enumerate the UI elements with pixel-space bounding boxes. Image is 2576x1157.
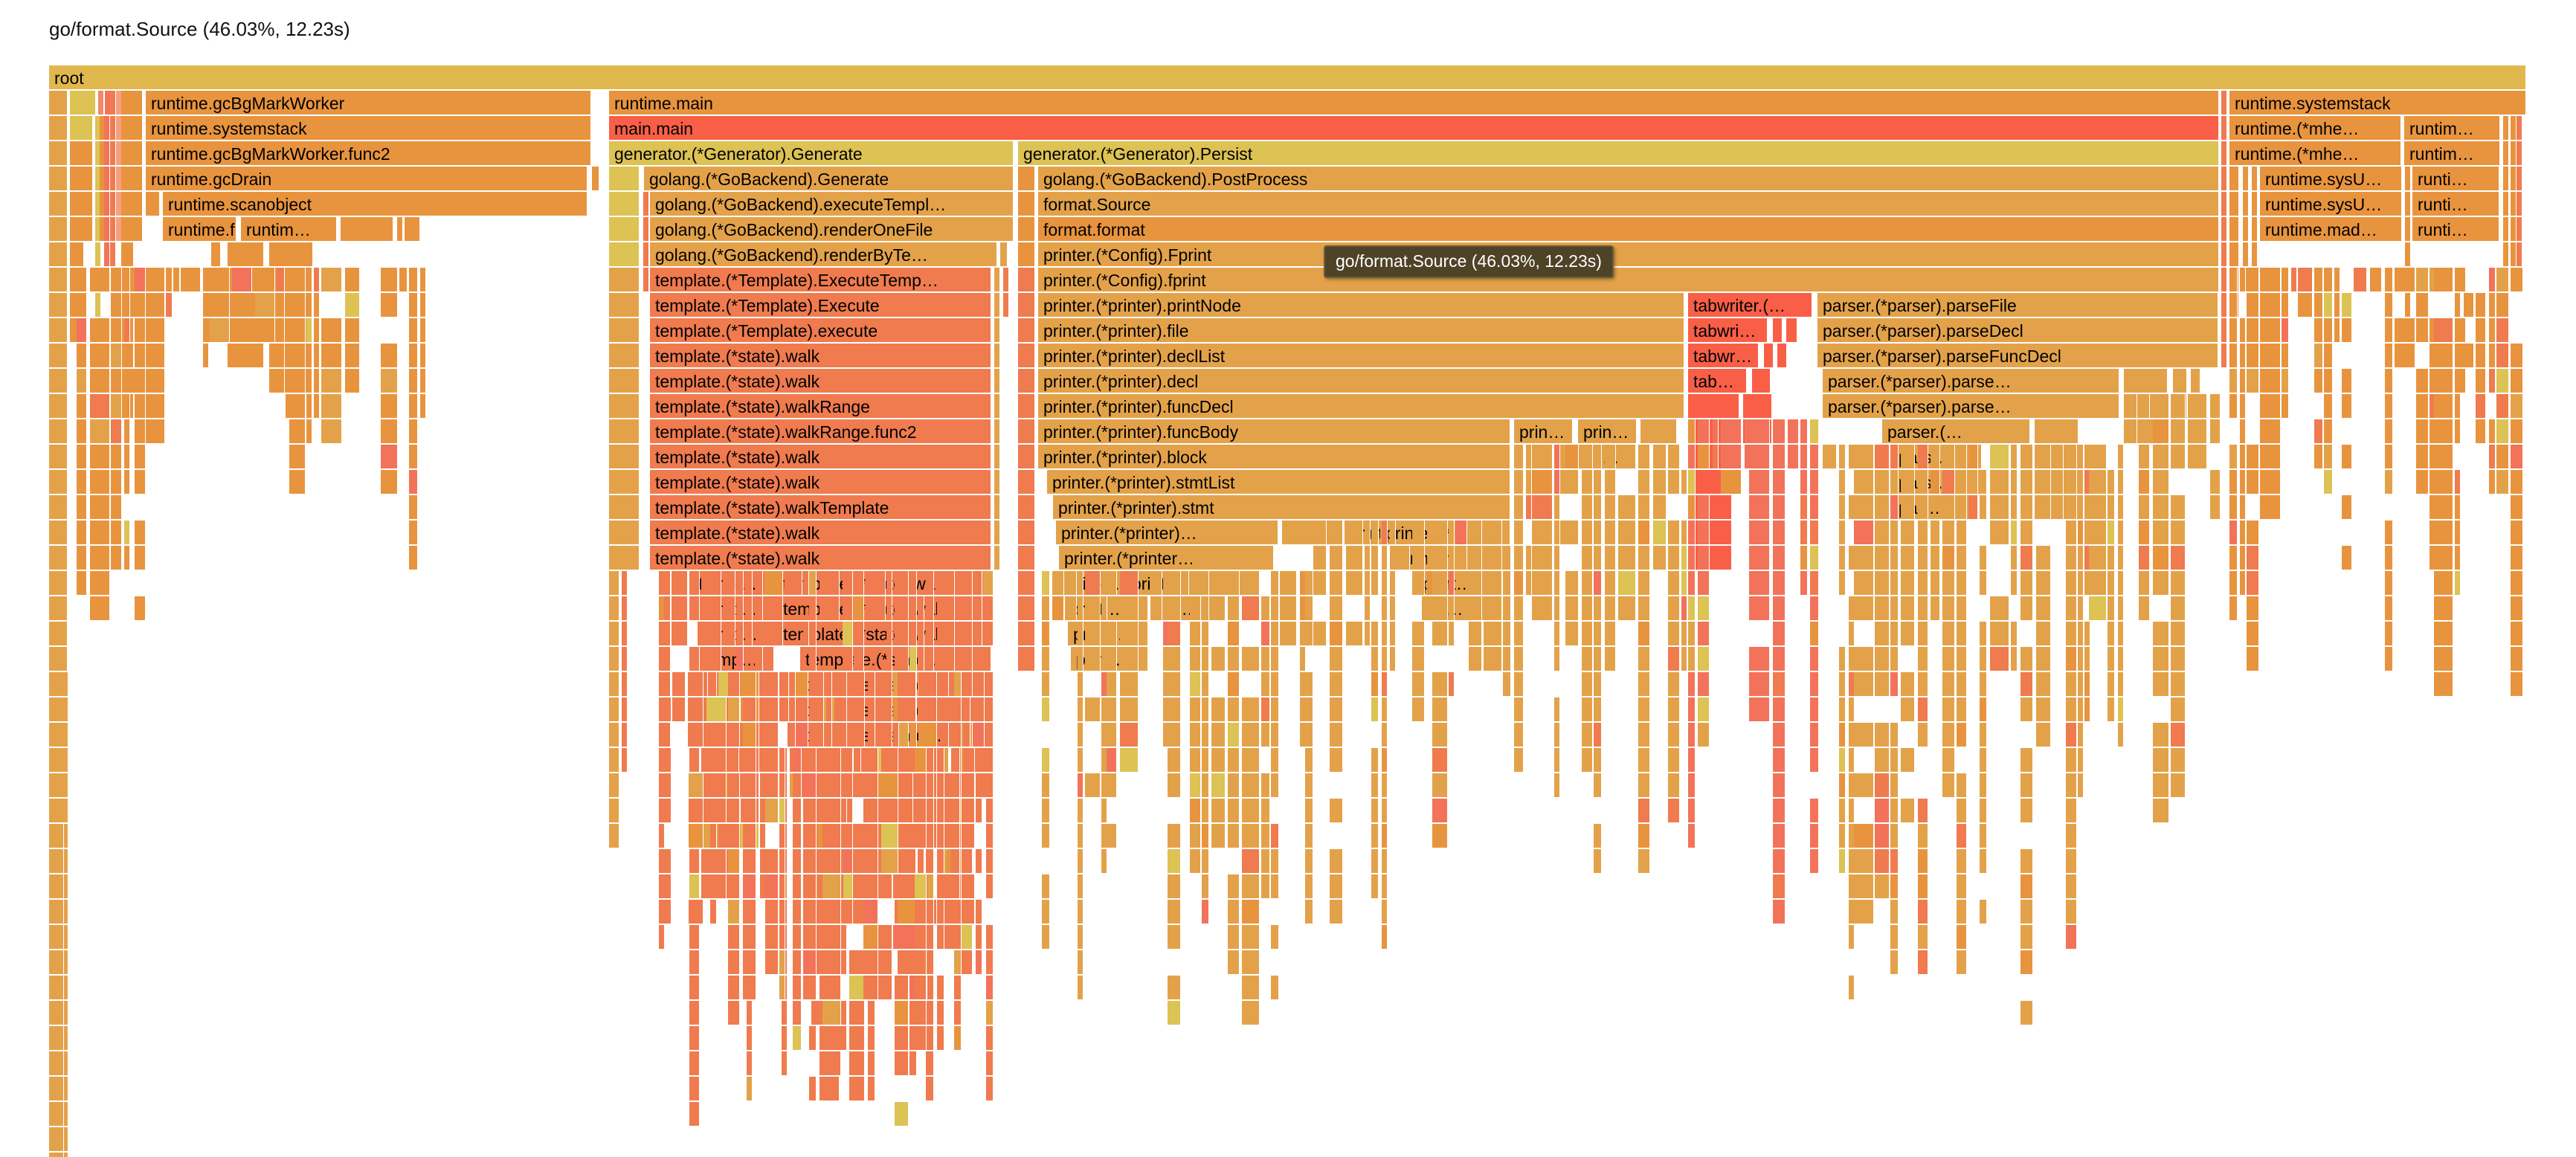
flame-frame-unlabeled[interactable] (345, 344, 360, 369)
flame-frame-unlabeled[interactable] (1484, 622, 1502, 647)
flame-frame-unlabeled[interactable] (2282, 394, 2289, 419)
flame-frame-unlabeled[interactable] (793, 874, 802, 900)
flame-frame-unlabeled[interactable] (2020, 773, 2033, 799)
flame-frame-unlabeled[interactable] (345, 318, 360, 344)
flame-frame-unlabeled[interactable] (135, 521, 146, 546)
flame-frame-unlabeled[interactable] (1371, 521, 1379, 546)
flame-frame-unlabeled[interactable] (1078, 596, 1083, 622)
flame-frame-unlabeled[interactable] (314, 344, 320, 369)
flame-frame-unlabeled[interactable] (1773, 723, 1786, 748)
flame-frame-unlabeled[interactable] (834, 1026, 847, 1051)
flame-frame-unlabeled[interactable] (210, 293, 230, 318)
flame-frame-unlabeled[interactable] (664, 622, 671, 647)
flame-frame-unlabeled[interactable] (951, 849, 960, 874)
flame-frame-unlabeled[interactable] (1582, 723, 1593, 748)
flame-frame-unlabeled[interactable] (70, 167, 94, 192)
flame-frame-unlabeled[interactable] (609, 318, 640, 344)
flame-frame-unlabeled[interactable] (1211, 799, 1226, 824)
flame-frame-unlabeled[interactable] (956, 596, 973, 622)
flame-frame-unlabeled[interactable] (2153, 748, 2169, 773)
flame-frame-unlabeled[interactable] (1990, 470, 2009, 495)
flame-frame-unlabeled[interactable] (689, 697, 703, 723)
flame-frame-unlabeled[interactable] (1371, 799, 1379, 824)
flame-frame-unlabeled[interactable] (609, 521, 640, 546)
flame-frame-unlabeled[interactable] (2118, 546, 2124, 571)
flame-frame-unlabeled[interactable] (2229, 495, 2238, 521)
flame-frame-unlabeled[interactable] (1313, 521, 1327, 546)
flame-frame-unlabeled[interactable] (1526, 571, 1532, 596)
flame-frame-unlabeled[interactable] (2416, 445, 2429, 470)
flame-frame-unlabeled[interactable] (1668, 799, 1680, 824)
flame-frame-unlabeled[interactable] (1957, 697, 1967, 723)
flame-frame-unlabeled[interactable] (2260, 419, 2281, 445)
flame-frame-unlabeled[interactable] (49, 571, 68, 596)
flame-frame-unlabeled[interactable] (1823, 445, 1837, 470)
flame-frame-unlabeled[interactable] (951, 748, 960, 773)
flame-frame-unlabeled[interactable] (277, 268, 285, 293)
flame-frame-unlabeled[interactable] (1565, 445, 1579, 470)
flame-frame-unlabeled[interactable] (2517, 192, 2522, 217)
flame-frame-unlabeled[interactable] (1749, 445, 1770, 470)
flame-frame-unlabeled[interactable] (826, 697, 832, 723)
flame-frame-unlabeled[interactable] (1638, 773, 1650, 799)
flame-frame-unlabeled[interactable] (1901, 571, 1915, 596)
flame-frame-unlabeled[interactable] (2118, 697, 2124, 723)
flame-frame-unlabeled[interactable] (895, 1051, 909, 1077)
flame-frame-unlabeled[interactable] (1875, 874, 1890, 900)
flame-frame-unlabeled[interactable] (2314, 268, 2323, 293)
flame-frame-unlabeled[interactable] (1890, 647, 1899, 672)
flame-frame-unlabeled[interactable] (2089, 470, 2107, 495)
flame-frame-unlabeled[interactable] (1018, 369, 1036, 394)
flame-frame-unlabeled[interactable] (289, 369, 306, 394)
flame-frame-unlabeled[interactable] (664, 571, 671, 596)
flame-frame-unlabeled[interactable] (793, 1026, 802, 1051)
flame-frame-unlabeled[interactable] (2511, 495, 2523, 521)
flame-frame-unlabeled[interactable] (1018, 546, 1036, 571)
flame-frame-unlabeled[interactable] (2247, 268, 2259, 293)
flame-frame-unlabeled[interactable] (2252, 192, 2258, 217)
flame-frame-unlabeled[interactable] (728, 849, 740, 874)
flame-frame-unlabeled[interactable] (314, 394, 320, 419)
flame-frame-unlabeled[interactable] (2066, 495, 2077, 521)
flame-frame-unlabeled[interactable] (2036, 622, 2051, 647)
flame-frame-unlabeled[interactable] (49, 419, 68, 445)
flame-frame-unlabeled[interactable] (706, 697, 727, 723)
flame-frame-unlabeled[interactable] (1810, 748, 1819, 773)
flame-frame-unlabeled[interactable] (1514, 647, 1524, 672)
flame-frame-unlabeled[interactable] (1261, 622, 1270, 647)
flame-frame-unlabeled[interactable] (1261, 672, 1270, 697)
flame-frame-unlabeled[interactable] (1839, 697, 1846, 723)
flame-frame-unlabeled[interactable] (2020, 748, 2033, 773)
flame-frame-unlabeled[interactable] (49, 91, 68, 116)
flame-frame-unlabeled[interactable] (2342, 369, 2352, 394)
flame-frame-unlabeled[interactable] (2171, 419, 2186, 445)
flame-frame-unlabeled[interactable] (1638, 799, 1650, 824)
flame-frame-unlabeled[interactable] (1749, 470, 1770, 495)
flame-frame-unlabeled[interactable] (963, 697, 970, 723)
flame-frame-unlabeled[interactable] (110, 91, 116, 116)
flame-frame-unlabeled[interactable] (937, 773, 944, 799)
flame-frame-unlabeled[interactable] (2370, 268, 2382, 293)
flame-frame-unlabeled[interactable] (1854, 521, 1874, 546)
flame-frame-unlabeled[interactable] (1107, 723, 1117, 748)
flame-frame-unlabeled[interactable] (2243, 167, 2249, 192)
flame-frame-unlabeled[interactable] (2011, 622, 2018, 647)
flame-frame-unlabeled[interactable] (1140, 622, 1148, 647)
flame-frame-unlabeled[interactable] (49, 344, 68, 369)
flame-frame-unlabeled[interactable] (1957, 571, 1967, 596)
flame-frame-unlabeled[interactable] (2078, 596, 2084, 622)
flame-frame-unlabeled[interactable] (2511, 369, 2523, 394)
flame-frame-unlabeled[interactable] (765, 723, 779, 748)
flame-frame-unlabeled[interactable] (1078, 647, 1083, 672)
flame-frame-unlabeled[interactable] (793, 950, 802, 976)
flame-frame-unlabeled[interactable] (1918, 697, 1928, 723)
flame-frame-unlabeled[interactable] (1330, 849, 1343, 874)
flame-frame-unlabeled[interactable] (49, 116, 68, 141)
flame-frame-unlabeled[interactable] (659, 925, 665, 950)
flame-frame-unlabeled[interactable] (915, 1001, 927, 1026)
flame-frame-unlabeled[interactable] (2434, 318, 2453, 344)
flame-frame-unlabeled[interactable] (994, 521, 1000, 546)
flame-frame-unlabeled[interactable] (1594, 849, 1602, 874)
flame-frame-unlabeled[interactable] (90, 596, 110, 622)
flame-frame-unlabeled[interactable] (2385, 268, 2393, 293)
flame-frame-unlabeled[interactable] (1305, 799, 1313, 824)
flame-frame-unlabeled[interactable] (2416, 293, 2429, 318)
flame-frame-unlabeled[interactable] (811, 672, 824, 697)
flame-frame-unlabeled[interactable] (1412, 672, 1425, 697)
flame-frame-unlabeled[interactable] (1698, 647, 1710, 672)
flame-frame-unlabeled[interactable] (876, 950, 892, 976)
flame-frame-unlabeled[interactable] (2188, 445, 2207, 470)
flame-frame-unlabeled[interactable] (124, 394, 130, 419)
flame-frame-unlabeled[interactable] (743, 672, 756, 697)
flame-frame-unlabeled[interactable] (609, 571, 619, 596)
flame-frame-unlabeled[interactable] (909, 596, 917, 622)
flame-frame-unlabeled[interactable] (2416, 318, 2429, 344)
flame-frame-unlabeled[interactable] (706, 874, 727, 900)
flame-frame-unlabeled[interactable] (1605, 647, 1616, 672)
flame-frame-unlabeled[interactable] (2020, 647, 2033, 672)
flame-frame-unlabeled[interactable] (1228, 824, 1240, 849)
flame-frame-unlabeled[interactable] (2066, 521, 2077, 546)
flame-frame-unlabeled[interactable] (963, 799, 975, 824)
flame-frame-unlabeled[interactable] (90, 394, 110, 419)
flame-frame-unlabeled[interactable] (1957, 874, 1967, 900)
flame-frame-unlabeled[interactable] (1120, 697, 1139, 723)
flame-frame-unlabeled[interactable] (124, 419, 130, 445)
flame-frame-unlabeled[interactable] (881, 799, 898, 824)
flame-frame-unlabeled[interactable] (1638, 824, 1650, 849)
flame-frame-unlabeled[interactable] (1554, 521, 1560, 546)
flame-frame-unlabeled[interactable] (868, 1051, 875, 1077)
flame-frame-unlabeled[interactable] (2511, 571, 2523, 596)
flame-frame-unlabeled[interactable] (803, 799, 817, 824)
flame-frame-unlabeled[interactable] (1653, 445, 1667, 470)
flame-frame-unlabeled[interactable] (809, 647, 817, 672)
flame-frame-unlabeled[interactable] (963, 900, 975, 925)
flame-frame-unlabeled[interactable] (1942, 546, 1955, 571)
flame-frame-unlabeled[interactable] (1773, 647, 1786, 672)
flame-frame-unlabeled[interactable] (976, 950, 982, 976)
flame-frame-unlabeled[interactable] (689, 824, 703, 849)
flame-frame-unlabeled[interactable] (2252, 217, 2258, 242)
flame-frame-unlabeled[interactable] (1688, 470, 1696, 495)
flame-frame-unlabeled[interactable] (381, 369, 398, 394)
flame-frame-unlabeled[interactable] (609, 672, 619, 697)
flame-frame-unlabeled[interactable] (2342, 546, 2352, 571)
flame-frame-unlabeled[interactable] (937, 925, 944, 950)
flame-frame-unlabeled[interactable] (2314, 293, 2323, 318)
flame-frame-unlabeled[interactable] (1382, 723, 1388, 748)
flame-frame-unlabeled[interactable] (1228, 748, 1240, 773)
flame-frame-unlabeled[interactable] (2036, 495, 2051, 521)
flame-frame-unlabeled[interactable] (1261, 849, 1270, 874)
flame-frame-unlabeled[interactable] (2020, 672, 2033, 697)
flame-frame-unlabeled[interactable] (2108, 596, 2115, 622)
flame-frame-unlabeled[interactable] (822, 799, 841, 824)
flame-frame-unlabeled[interactable] (1526, 445, 1532, 470)
flame-frame-unlabeled[interactable] (2153, 495, 2169, 521)
flame-frame-unlabeled[interactable] (1980, 824, 1987, 849)
flame-frame-unlabeled[interactable] (2011, 445, 2018, 470)
flame-frame[interactable]: parser.(*parser).parseFile (1817, 293, 2219, 318)
flame-frame-unlabeled[interactable] (1839, 824, 1846, 849)
flame-frame-unlabeled[interactable] (1749, 647, 1770, 672)
flame-frame-unlabeled[interactable] (1638, 495, 1650, 521)
flame-frame-unlabeled[interactable] (1605, 596, 1616, 622)
flame-frame-unlabeled[interactable] (1432, 571, 1448, 596)
flame-frame-unlabeled[interactable] (1305, 571, 1313, 596)
flame-frame-unlabeled[interactable] (1271, 723, 1279, 748)
flame-frame-unlabeled[interactable] (1773, 419, 1786, 445)
flame-frame-unlabeled[interactable] (1018, 167, 1036, 192)
flame-frame-unlabeled[interactable] (1514, 495, 1524, 521)
flame-frame-unlabeled[interactable] (1202, 748, 1209, 773)
flame-frame-unlabeled[interactable] (1018, 495, 1036, 521)
flame-frame-unlabeled[interactable] (1605, 521, 1616, 546)
flame-frame-unlabeled[interactable] (1942, 723, 1955, 748)
flame-frame-unlabeled[interactable] (1582, 495, 1593, 521)
flame-frame-unlabeled[interactable] (2260, 495, 2281, 521)
flame-frame-unlabeled[interactable] (1942, 622, 1955, 647)
flame-frame-unlabeled[interactable] (2240, 521, 2246, 546)
flame-frame-unlabeled[interactable] (409, 344, 418, 369)
flame-frame-unlabeled[interactable] (976, 622, 982, 647)
flame-frame[interactable]: template.(*state).walkTemplate (650, 495, 992, 521)
flame-frame-unlabeled[interactable] (898, 748, 916, 773)
flame-frame-unlabeled[interactable] (2221, 268, 2227, 293)
flame-frame-unlabeled[interactable] (2434, 369, 2453, 394)
flame-frame-unlabeled[interactable] (779, 849, 785, 874)
flame-frame-unlabeled[interactable] (2342, 293, 2352, 318)
flame-frame-unlabeled[interactable] (2496, 318, 2509, 344)
flame-frame-unlabeled[interactable] (1582, 445, 1593, 470)
flame-frame-unlabeled[interactable] (2324, 445, 2333, 470)
flame-frame-unlabeled[interactable] (1554, 445, 1560, 470)
flame-frame-unlabeled[interactable] (2229, 546, 2238, 571)
flame-frame-unlabeled[interactable] (1854, 723, 1874, 748)
flame-frame-unlabeled[interactable] (1957, 849, 1967, 874)
flame-frame-unlabeled[interactable] (2054, 445, 2064, 470)
flame-frame-unlabeled[interactable] (1078, 622, 1083, 647)
flame-frame-unlabeled[interactable] (866, 571, 886, 596)
flame-frame-unlabeled[interactable] (2342, 445, 2352, 470)
flame-frame-unlabeled[interactable] (2153, 521, 2169, 546)
flame-frame-unlabeled[interactable] (863, 925, 878, 950)
flame-frame-unlabeled[interactable] (1202, 799, 1209, 824)
flame-frame-unlabeled[interactable] (2252, 167, 2258, 192)
flame-frame-unlabeled[interactable] (609, 419, 640, 445)
flame-frame-unlabeled[interactable] (1749, 495, 1770, 521)
flame-frame-unlabeled[interactable] (1242, 1001, 1260, 1026)
flame-frame-unlabeled[interactable] (1313, 546, 1327, 571)
flame-frame-unlabeled[interactable] (2229, 344, 2238, 369)
flame-frame-unlabeled[interactable] (765, 849, 779, 874)
flame-frame-unlabeled[interactable] (2229, 318, 2238, 344)
flame-frame-unlabeled[interactable] (809, 622, 817, 647)
flame-frame-unlabeled[interactable] (609, 697, 619, 723)
flame-frame-unlabeled[interactable] (689, 1051, 700, 1077)
flame-frame-unlabeled[interactable] (1875, 495, 1890, 521)
flame-frame-unlabeled[interactable] (2036, 723, 2051, 748)
flame-frame-unlabeled[interactable] (1532, 495, 1553, 521)
flame-frame-unlabeled[interactable] (1582, 470, 1593, 495)
flame-frame-unlabeled[interactable] (2078, 470, 2084, 495)
flame-frame-unlabeled[interactable] (2078, 445, 2084, 470)
flame-frame-unlabeled[interactable] (1968, 470, 1978, 495)
flame-frame-unlabeled[interactable] (409, 394, 418, 419)
flame-frame-unlabeled[interactable] (898, 849, 916, 874)
flame-frame-unlabeled[interactable] (2089, 546, 2107, 571)
flame-frame[interactable]: golang.(*GoBackend).renderByTe… (650, 242, 998, 268)
flame-frame-unlabeled[interactable] (1749, 672, 1770, 697)
flame-frame-unlabeled[interactable] (2229, 217, 2240, 242)
flame-frame-unlabeled[interactable] (2324, 419, 2333, 445)
flame-frame-unlabeled[interactable] (111, 293, 122, 318)
flame-frame-unlabeled[interactable] (111, 369, 122, 394)
flame-frame-unlabeled[interactable] (2036, 546, 2051, 571)
flame-frame-unlabeled[interactable] (1305, 672, 1313, 697)
flame-frame[interactable]: format.format (1038, 217, 2220, 242)
flame-frame-unlabeled[interactable] (1514, 470, 1524, 495)
flame-frame-unlabeled[interactable] (49, 470, 68, 495)
flame-frame-unlabeled[interactable] (2476, 293, 2486, 318)
flame-frame-unlabeled[interactable] (1190, 647, 1201, 672)
flame-frame-unlabeled[interactable] (1228, 925, 1240, 950)
flame-frame-unlabeled[interactable] (121, 91, 144, 116)
flame-frame-unlabeled[interactable] (2171, 748, 2186, 773)
flame-frame-unlabeled[interactable] (314, 293, 320, 318)
flame-frame-unlabeled[interactable] (1330, 748, 1343, 773)
flame-frame-unlabeled[interactable] (2434, 344, 2453, 369)
flame-frame[interactable]: template.(*state).walkRange (650, 394, 992, 419)
flame-frame-unlabeled[interactable] (779, 824, 785, 849)
flame-frame-unlabeled[interactable] (1365, 521, 1371, 546)
flame-frame-unlabeled[interactable] (976, 799, 982, 824)
flame-frame-unlabeled[interactable] (1554, 622, 1560, 647)
flame-frame-unlabeled[interactable] (736, 622, 744, 647)
flame-frame-unlabeled[interactable] (803, 773, 817, 799)
flame-frame-unlabeled[interactable] (1773, 571, 1786, 596)
flame-frame-unlabeled[interactable] (2455, 470, 2461, 495)
flame-frame-unlabeled[interactable] (2188, 394, 2207, 419)
flame-frame-unlabeled[interactable] (747, 1077, 753, 1102)
flame-frame-unlabeled[interactable] (659, 748, 672, 773)
flame-frame-unlabeled[interactable] (49, 824, 64, 849)
flame-frame-unlabeled[interactable] (977, 773, 994, 799)
flame-frame-unlabeled[interactable] (2240, 571, 2246, 596)
flame-frame-unlabeled[interactable] (743, 925, 756, 950)
flame-frame-unlabeled[interactable] (2078, 672, 2084, 697)
flame-frame-unlabeled[interactable] (1618, 445, 1636, 470)
flame-frame-unlabeled[interactable] (843, 622, 853, 647)
flame-frame-unlabeled[interactable] (2089, 445, 2107, 470)
flame-frame-unlabeled[interactable] (868, 723, 875, 748)
flame-frame-unlabeled[interactable] (90, 419, 110, 445)
flame-frame-unlabeled[interactable] (1698, 546, 1710, 571)
flame-frame-unlabeled[interactable] (1957, 596, 1967, 622)
flame-frame-unlabeled[interactable] (1042, 773, 1050, 799)
flame-frame-unlabeled[interactable] (2496, 268, 2509, 293)
flame-frame-unlabeled[interactable] (409, 495, 418, 521)
flame-frame-unlabeled[interactable] (1140, 596, 1148, 622)
flame-frame-unlabeled[interactable] (1532, 596, 1553, 622)
flame-frame-unlabeled[interactable] (90, 546, 110, 571)
flame-frame-unlabeled[interactable] (1942, 571, 1955, 596)
flame-frame-unlabeled[interactable] (1018, 521, 1036, 546)
flame-frame-unlabeled[interactable] (2385, 571, 2393, 596)
flame-frame-unlabeled[interactable] (1839, 723, 1846, 748)
flame-frame-unlabeled[interactable] (1839, 495, 1846, 521)
flame-frame-unlabeled[interactable] (743, 976, 756, 1001)
flame-frame-unlabeled[interactable] (1773, 622, 1786, 647)
flame-frame-unlabeled[interactable] (937, 976, 944, 1001)
flame-frame-unlabeled[interactable] (1330, 546, 1343, 571)
flame-frame-unlabeled[interactable] (937, 799, 944, 824)
flame-frame-unlabeled[interactable] (1875, 571, 1890, 596)
flame-frame-unlabeled[interactable] (811, 723, 824, 748)
flame-frame-unlabeled[interactable] (1390, 647, 1396, 672)
flame-frame-unlabeled[interactable] (803, 824, 817, 849)
flame-frame-unlabeled[interactable] (2489, 268, 2496, 293)
flame-frame[interactable]: golang.(*GoBackend).renderOneFile (650, 217, 1014, 242)
flame-frame-unlabeled[interactable] (1261, 697, 1270, 723)
flame-frame-unlabeled[interactable] (409, 293, 418, 318)
flame-frame-unlabeled[interactable] (2405, 167, 2411, 192)
flame-frame-unlabeled[interactable] (49, 976, 64, 1001)
flame-frame-unlabeled[interactable] (954, 697, 962, 723)
flame-frame-unlabeled[interactable] (1582, 521, 1593, 546)
flame-frame-unlabeled[interactable] (1565, 596, 1579, 622)
flame-frame-unlabeled[interactable] (2489, 445, 2496, 470)
flame-frame-unlabeled[interactable] (2496, 369, 2509, 394)
flame-frame-unlabeled[interactable] (1168, 1001, 1181, 1026)
flame-frame-unlabeled[interactable] (764, 571, 783, 596)
flame-frame-unlabeled[interactable] (1085, 697, 1101, 723)
flame-frame-unlabeled[interactable] (1638, 521, 1650, 546)
flame-frame-unlabeled[interactable] (1942, 748, 1955, 773)
flame-frame-unlabeled[interactable] (1107, 824, 1117, 849)
flame-frame-unlabeled[interactable] (135, 596, 146, 622)
flame-frame-unlabeled[interactable] (743, 900, 756, 925)
flame-frame-unlabeled[interactable] (1371, 697, 1379, 723)
flame-frame-unlabeled[interactable] (994, 445, 1000, 470)
flame-frame-unlabeled[interactable] (1228, 571, 1240, 596)
